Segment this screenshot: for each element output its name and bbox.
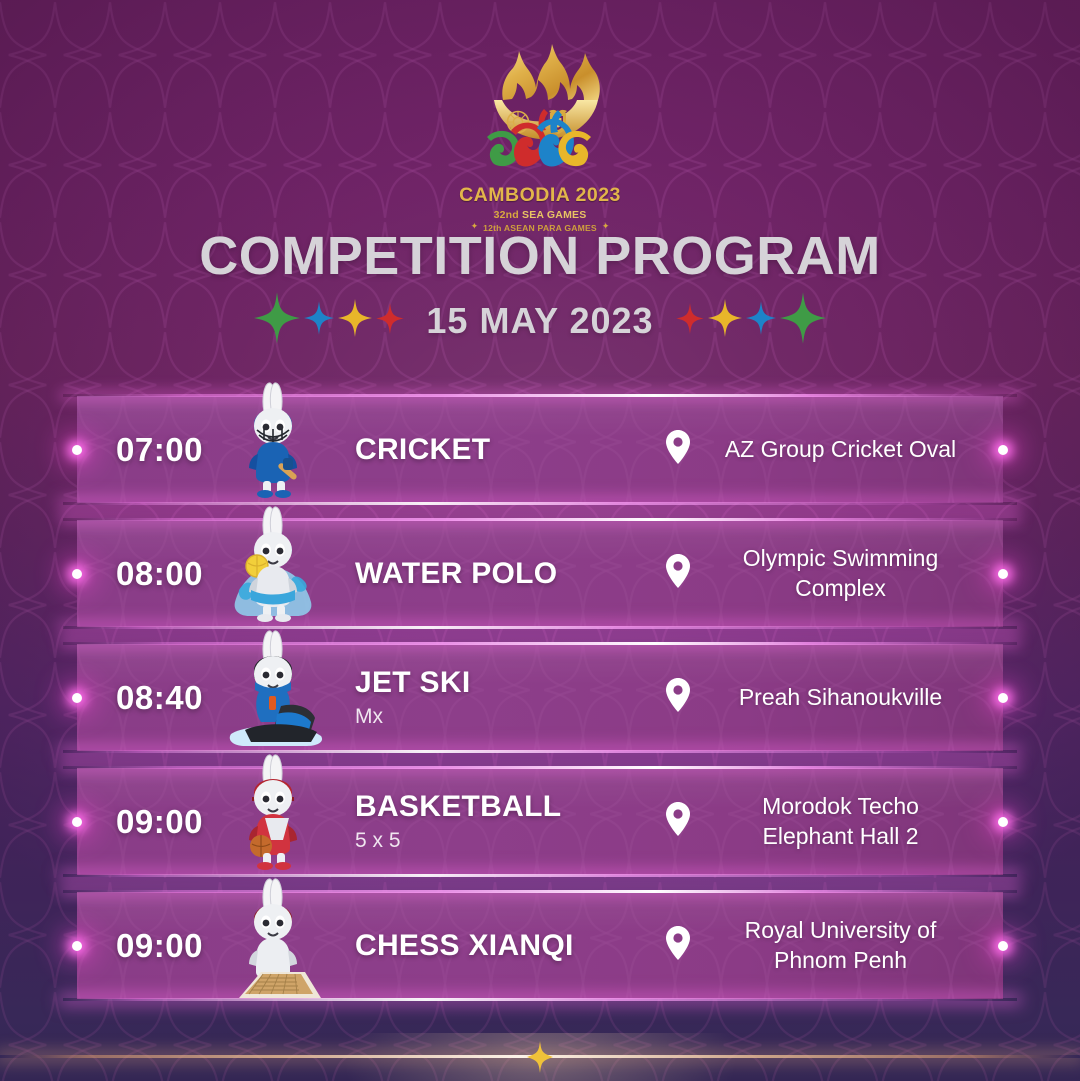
schedule-row[interactable]: 09:00CHESS XIANQIRoyal University ofPhno…: [77, 892, 1003, 999]
date-line: 15 MAY 2023: [0, 292, 1080, 349]
page-title: COMPETITION PROGRAM: [0, 225, 1080, 287]
sport-name: BASKETBALL: [355, 790, 666, 824]
card-bottom-glow: [63, 626, 1017, 629]
logo-wordmark: CAMBODIA 2023: [459, 184, 621, 207]
sport-name: CHESS XIANQI: [355, 929, 666, 963]
card-top-glow: [63, 394, 1017, 397]
sport-block: JET SKIMx: [336, 666, 666, 729]
sparkle-star-icon: [780, 292, 826, 344]
location-pin: [666, 802, 690, 841]
sparkle-star-icon: [376, 303, 404, 334]
location-pin-icon: [666, 430, 690, 464]
card-bottom-glow: [63, 750, 1017, 753]
schedule-row[interactable]: 09:00BASKETBALL5 x 5Morodok TechoElephan…: [77, 768, 1003, 875]
sparkle-star: [254, 292, 300, 349]
sparkle-star: [676, 303, 704, 339]
chess-mascot: [216, 892, 336, 999]
water-polo-mascot: [216, 520, 336, 627]
location-pin-icon: [666, 802, 690, 836]
card-top-glow: [63, 890, 1017, 893]
sport-block: BASKETBALL5 x 5: [336, 790, 666, 853]
location-pin-icon: [666, 926, 690, 960]
location-pin: [666, 430, 690, 469]
sport-subtitle: 5 x 5: [355, 829, 666, 853]
venue-name: Preah Sihanoukville: [704, 683, 977, 712]
card-bottom-glow: [63, 502, 1017, 505]
decorative-stars-right: [676, 292, 826, 349]
venue-block: Morodok TechoElephant Hall 2: [666, 792, 1003, 851]
venue-line: Olympic Swimming: [704, 544, 977, 573]
venue-line: Royal University of: [704, 916, 977, 945]
venue-line: Preah Sihanoukville: [704, 683, 977, 712]
sparkle-star-icon: [254, 292, 300, 344]
sparkle-star: [746, 301, 776, 340]
venue-line: Morodok Techo: [704, 792, 977, 821]
logo-subline-1: 32nd SEA GAMES: [494, 209, 587, 221]
sport-name: JET SKI: [355, 666, 666, 700]
venue-block: AZ Group Cricket Oval: [666, 430, 1003, 469]
schedule-row[interactable]: 07:00CRICKETAZ Group Cricket Oval: [77, 396, 1003, 503]
sparkle-star: [780, 292, 826, 349]
sparkle-star: [338, 299, 372, 342]
venue-block: Royal University ofPhnom Penh: [666, 916, 1003, 975]
sparkle-star-icon: [708, 299, 742, 337]
venue-block: Olympic SwimmingComplex: [666, 544, 1003, 603]
sparkle-star-icon: [746, 301, 776, 335]
venue-name: Olympic SwimmingComplex: [704, 544, 977, 603]
card-top-glow: [63, 642, 1017, 645]
card-bottom-glow: [63, 998, 1017, 1001]
venue-name: Morodok TechoElephant Hall 2: [704, 792, 977, 851]
venue-line: Complex: [704, 574, 977, 603]
sea-games-logo: CAMBODIA 2023 32nd SEA GAMES ✦ 12th ASEA…: [0, 38, 1080, 233]
date-text: 15 MAY 2023: [404, 300, 675, 342]
venue-block: Preah Sihanoukville: [666, 678, 1003, 717]
sparkle-star: [376, 303, 404, 339]
sparkle-star-icon: [338, 299, 372, 337]
sparkle-star: [304, 301, 334, 340]
sport-name: WATER POLO: [355, 557, 666, 591]
sport-block: CRICKET: [336, 433, 666, 467]
venue-name: AZ Group Cricket Oval: [704, 435, 977, 464]
venue-name: Royal University ofPhnom Penh: [704, 916, 977, 975]
logo-emblem: [480, 38, 600, 183]
logo-subline-1-suffix: SEA GAMES: [522, 209, 586, 221]
footer: [0, 1033, 1080, 1081]
sport-name: CRICKET: [355, 433, 666, 467]
sparkle-star: [708, 299, 742, 342]
sport-block: WATER POLO: [336, 557, 666, 591]
schedule-list: 07:00CRICKETAZ Group Cricket Oval08:00WA…: [0, 396, 1080, 1016]
logo-subline-1-prefix: 32nd: [494, 209, 522, 221]
gold-star-icon: [527, 1041, 553, 1073]
sport-block: CHESS XIANQI: [336, 929, 666, 963]
sparkle-star-icon: [676, 303, 704, 334]
card-bottom-glow: [63, 874, 1017, 877]
location-pin: [666, 554, 690, 593]
venue-line: AZ Group Cricket Oval: [704, 435, 977, 464]
venue-line: Elephant Hall 2: [704, 822, 977, 851]
card-top-glow: [63, 518, 1017, 521]
location-pin-icon: [666, 678, 690, 712]
decorative-stars-left: [254, 292, 404, 349]
location-pin-icon: [666, 554, 690, 588]
jet-ski-mascot: [216, 644, 336, 751]
schedule-row[interactable]: 08:40JET SKIMxPreah Sihanoukville: [77, 644, 1003, 751]
basketball-mascot: [216, 768, 336, 875]
location-pin: [666, 926, 690, 965]
cricket-mascot: [216, 396, 336, 503]
schedule-row[interactable]: 08:00WATER POLOOlympic SwimmingComplex: [77, 520, 1003, 627]
sparkle-star-icon: [304, 301, 334, 335]
sport-subtitle: Mx: [355, 705, 666, 729]
venue-line: Phnom Penh: [704, 946, 977, 975]
location-pin: [666, 678, 690, 717]
card-top-glow: [63, 766, 1017, 769]
